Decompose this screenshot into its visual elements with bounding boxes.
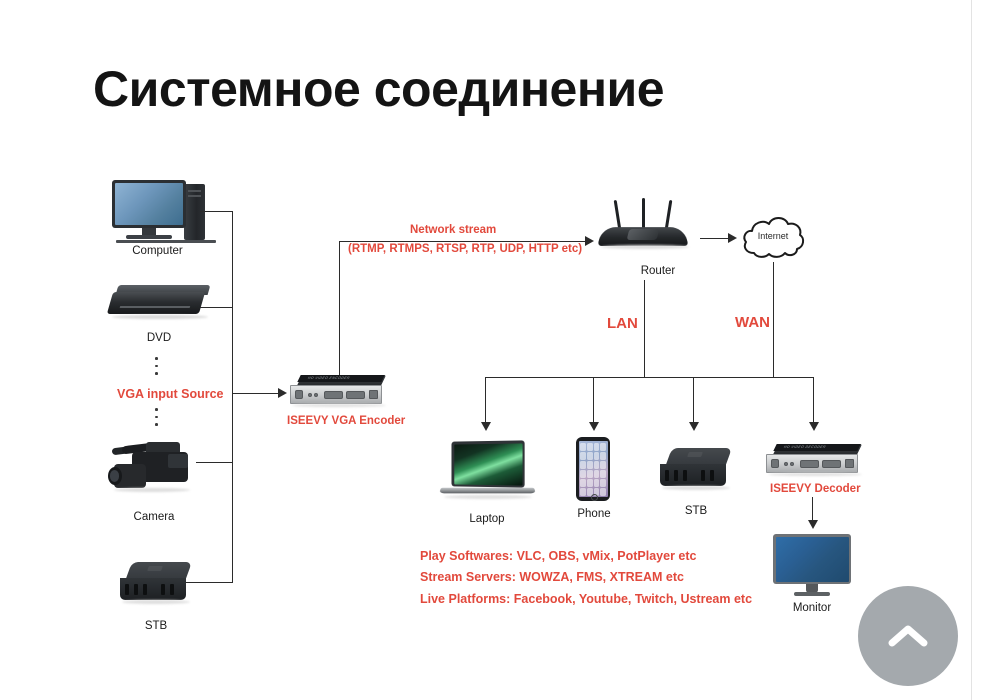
label-decoder: ISEEVY Decoder <box>770 483 861 495</box>
dvd-shadow <box>112 315 208 319</box>
router-antenna-right <box>665 200 673 230</box>
computer-stand-base <box>126 235 172 239</box>
device-router <box>600 200 690 250</box>
camera-lens-glass <box>110 470 119 482</box>
laptop-shadow <box>444 495 532 499</box>
chevron-up-icon <box>888 623 928 649</box>
wire-computer-to-bus <box>200 211 233 212</box>
ellipsis-dots-lower <box>155 408 158 426</box>
device-stb-client <box>660 448 732 492</box>
encoder-port-vga-in <box>324 391 343 399</box>
decoder-port-hdmi <box>800 460 819 468</box>
arrowhead-to-encoder <box>278 388 287 398</box>
laptop-icon <box>451 440 524 487</box>
label-stream-protocols: (RTMP, RTMPS, RTSP, RTP, UDP, HTTP etc) <box>348 243 582 255</box>
wire-dvd-to-bus <box>200 307 233 308</box>
label-encoder: ISEEVY VGA Encoder <box>287 415 405 427</box>
label-lan: LAN <box>607 315 638 332</box>
arrowhead-to-internet <box>728 233 737 243</box>
decoder-port-lan <box>845 459 854 468</box>
dvd-player-icon <box>107 292 205 314</box>
monitor-screen <box>776 537 849 582</box>
laptop-screen <box>454 443 522 485</box>
arrowhead-to-laptop <box>481 422 491 431</box>
decoder-port-av1 <box>784 462 788 466</box>
stb-client-logo <box>687 452 703 457</box>
router-antenna-left <box>614 200 622 230</box>
ellipsis-dots-upper <box>155 357 158 375</box>
label-router: Router <box>614 265 702 277</box>
page-canvas: Системное соединение Computer DVD <box>0 0 996 700</box>
stb-shadow <box>122 600 190 604</box>
device-decoder: HD VIDEO DECODER <box>766 444 864 478</box>
decoder-port-av2 <box>790 462 794 466</box>
wire-internet-wan-down <box>773 262 774 377</box>
encoder-port-vga-out <box>346 391 365 399</box>
arrowhead-to-phone <box>589 422 599 431</box>
dvd-tray-line <box>120 306 190 308</box>
note-play-softwares: Play Softwares: VLC, OBS, vMix, PotPlaye… <box>420 549 696 563</box>
encoder-port-av2 <box>314 393 318 397</box>
note-live-platforms: Live Platforms: Facebook, Youtube, Twitc… <box>420 592 752 606</box>
device-camera <box>108 438 200 494</box>
wire-encoder-up <box>339 241 340 375</box>
internet-cloud: Internet <box>740 212 806 262</box>
decoder-port-vga <box>822 460 841 468</box>
label-internet: Internet <box>740 231 806 241</box>
encoder-box-icon <box>290 385 382 404</box>
router-antenna-center <box>642 198 645 230</box>
device-stb-source <box>120 562 192 606</box>
wire-bus-to-decoder <box>813 377 814 425</box>
label-phone: Phone <box>552 508 636 520</box>
wire-router-lan-down <box>644 280 645 377</box>
encoder-shadow <box>292 404 386 407</box>
computer-desk-surface <box>116 240 216 243</box>
device-monitor <box>773 534 853 598</box>
label-monitor: Monitor <box>772 602 852 614</box>
router-top-panel <box>627 229 660 240</box>
router-shadow <box>601 245 689 249</box>
page-outer-margin <box>972 0 996 700</box>
client-distribution-bus <box>485 377 814 378</box>
stb-client-shadow <box>662 486 730 490</box>
label-stb-source: STB <box>102 620 210 632</box>
decoder-silkscreen: HD VIDEO DECODER <box>783 445 827 449</box>
smartphone-icon <box>576 437 610 501</box>
wire-bus-to-phone <box>593 377 594 425</box>
decoder-box-icon <box>766 454 858 473</box>
wire-bus-to-stb <box>693 377 694 425</box>
device-phone <box>576 437 612 505</box>
label-camera: Camera <box>100 511 208 523</box>
arrowhead-to-monitor <box>808 520 818 529</box>
stb-logo <box>147 566 163 571</box>
decoder-port-power <box>771 459 779 468</box>
encoder-port-av1 <box>308 393 312 397</box>
monitor-stand-base <box>794 592 830 596</box>
label-wan: WAN <box>735 314 770 331</box>
arrowhead-to-decoder <box>809 422 819 431</box>
label-laptop: Laptop <box>439 513 535 525</box>
device-laptop <box>440 441 536 499</box>
arrowhead-to-router <box>585 236 594 246</box>
laptop-keyboard-base <box>439 488 536 494</box>
arrowhead-to-stb <box>689 422 699 431</box>
label-stb-client: STB <box>654 505 738 517</box>
note-stream-servers: Stream Servers: WOWZA, FMS, XTREAM etc <box>420 570 684 584</box>
camera-shadow <box>114 488 190 492</box>
computer-screen <box>115 183 183 225</box>
phone-home-button <box>591 494 598 501</box>
scroll-to-top-button[interactable] <box>858 586 958 686</box>
wire-stb-to-bus <box>186 582 233 583</box>
label-dvd: DVD <box>105 332 213 344</box>
label-network-stream: Network stream <box>410 224 496 236</box>
display-monitor-icon <box>773 534 851 584</box>
encoder-silkscreen: HD VIDEO ENCODER <box>307 376 351 380</box>
encoder-port-power <box>295 390 303 399</box>
set-top-box-icon <box>120 578 186 600</box>
camera-viewfinder <box>168 454 188 468</box>
decoder-shadow <box>768 473 862 476</box>
encoder-port-lan <box>369 390 378 399</box>
phone-screen <box>579 441 608 497</box>
computer-monitor-icon <box>112 180 186 228</box>
label-vga-input-source: VGA input Source <box>117 387 224 401</box>
set-top-box-icon <box>660 464 726 486</box>
source-bus-line <box>232 211 233 583</box>
wire-camera-to-bus <box>196 462 233 463</box>
label-computer: Computer <box>100 245 215 257</box>
page-title: Системное соединение <box>93 60 664 118</box>
device-encoder: HD VIDEO ENCODER <box>290 375 388 409</box>
wire-bus-to-laptop <box>485 377 486 425</box>
wire-bus-to-encoder <box>232 393 280 394</box>
